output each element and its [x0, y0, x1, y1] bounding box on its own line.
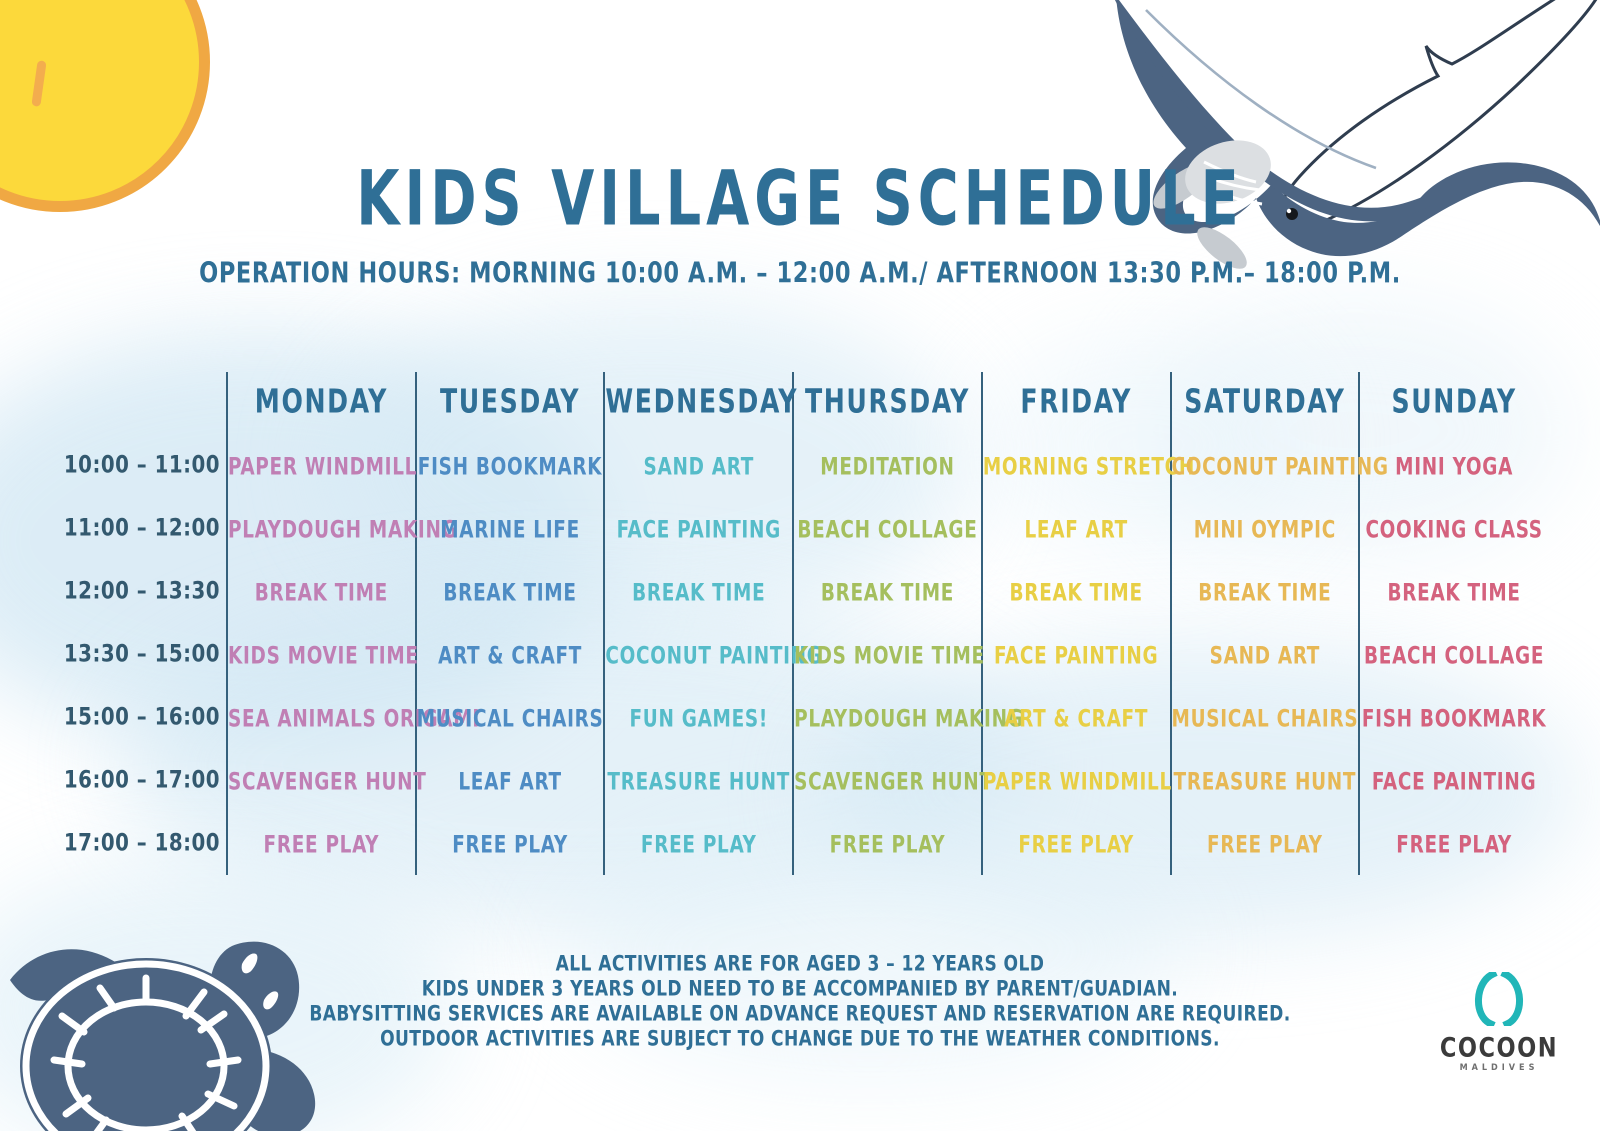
activity-label: LEAF ART [458, 766, 561, 794]
activity-label: COCONUT PAINTING [1172, 451, 1389, 479]
activity-cell-saturday: COCONUT PAINTING [1171, 434, 1360, 497]
poster-canvas: KIDS VILLAGE SCHEDULE OPERATION HOURS: M… [0, 0, 1600, 1131]
activity-cell-sunday: BREAK TIME [1359, 560, 1548, 623]
time-slot-label: 15:00 – 16:00 [58, 683, 227, 752]
cocoon-mark-icon [1463, 972, 1535, 1026]
activity-label: FUN GAMES! [630, 703, 769, 731]
activity-label: FREE PLAY [641, 829, 757, 857]
activity-cell-wednesday: TREASURE HUNT [604, 749, 793, 812]
activity-label: MEDITATION [820, 451, 954, 479]
table-row: 16:00 – 17:00SCAVENGER HUNTLEAF ARTTREAS… [58, 749, 1548, 812]
activity-label: COOKING CLASS [1365, 514, 1542, 542]
table-row: 11:00 – 12:00PLAYDOUGH MAKINGMARINE LIFE… [58, 497, 1548, 560]
activity-label: BREAK TIME [255, 577, 388, 605]
activity-label: BEACH COLLAGE [1364, 640, 1544, 668]
activity-label: TREASURE HUNT [1174, 766, 1357, 794]
day-header-wednesday: WEDNESDAY [604, 372, 793, 434]
footer-notes: ALL ACTIVITIES ARE FOR AGED 3 – 12 YEARS… [0, 952, 1600, 1052]
activity-label: FREE PLAY [264, 829, 380, 857]
activity-cell-saturday: MUSICAL CHAIRS [1171, 686, 1360, 749]
activity-label: FREE PLAY [452, 829, 568, 857]
activity-cell-saturday: FREE PLAY [1171, 812, 1360, 875]
activity-label: MINI OYMPIC [1194, 514, 1336, 542]
activity-cell-monday: KIDS MOVIE TIME [227, 623, 416, 686]
activity-label: MORNING STRETCH [983, 451, 1195, 479]
logo-wordmark: COCOON [1424, 1032, 1574, 1062]
time-column-header [58, 369, 227, 437]
activity-cell-wednesday: SAND ART [604, 434, 793, 497]
activity-label: BREAK TIME [821, 577, 954, 605]
activity-label: FISH BOOKMARK [1362, 703, 1547, 731]
activity-cell-friday: LEAF ART [982, 497, 1171, 560]
table-row: 10:00 – 11:00PAPER WINDMILLFISH BOOKMARK… [58, 434, 1548, 497]
activity-label: BEACH COLLAGE [797, 514, 977, 542]
cocoon-maldives-logo: COCOON MALDIVES [1424, 972, 1574, 1073]
activity-label: BREAK TIME [1010, 577, 1143, 605]
activity-cell-tuesday: ART & CRAFT [416, 623, 605, 686]
activity-cell-monday: PAPER WINDMILL [227, 434, 416, 497]
activity-cell-monday: SCAVENGER HUNT [227, 749, 416, 812]
activity-cell-wednesday: BREAK TIME [604, 560, 793, 623]
activity-label: PLAYDOUGH MAKING [228, 514, 457, 542]
activity-label: FREE PLAY [830, 829, 946, 857]
activity-cell-thursday: PLAYDOUGH MAKING [793, 686, 982, 749]
activity-cell-thursday: BREAK TIME [793, 560, 982, 623]
footer-line: KIDS UNDER 3 YEARS OLD NEED TO BE ACCOMP… [0, 976, 1600, 1004]
day-header-friday: FRIDAY [982, 372, 1171, 434]
schedule-table: MONDAY TUESDAY WEDNESDAY THURSDAY FRIDAY… [58, 372, 1548, 875]
activity-label: BREAK TIME [1198, 577, 1331, 605]
footer-line: OUTDOOR ACTIVITIES ARE SUBJECT TO CHANGE… [0, 1026, 1600, 1054]
footer-line: BABYSITTING SERVICES ARE AVAILABLE ON AD… [0, 1001, 1600, 1029]
activity-label: ART & CRAFT [438, 640, 582, 668]
activity-label: BREAK TIME [632, 577, 765, 605]
activity-cell-thursday: MEDITATION [793, 434, 982, 497]
logo-tagline: MALDIVES [1424, 1063, 1574, 1073]
table-header-row: MONDAY TUESDAY WEDNESDAY THURSDAY FRIDAY… [58, 372, 1548, 434]
activity-cell-friday: MORNING STRETCH [982, 434, 1171, 497]
activity-label: SAND ART [644, 451, 754, 479]
activity-label: SCAVENGER HUNT [794, 766, 993, 794]
day-header-thursday: THURSDAY [793, 372, 982, 434]
activity-cell-sunday: FREE PLAY [1359, 812, 1548, 875]
activity-label: SAND ART [1210, 640, 1320, 668]
activity-label: MARINE LIFE [440, 514, 580, 542]
activity-label: FISH BOOKMARK [418, 451, 603, 479]
activity-cell-thursday: KIDS MOVIE TIME [793, 623, 982, 686]
activity-cell-tuesday: FISH BOOKMARK [416, 434, 605, 497]
activity-label: BREAK TIME [1387, 577, 1520, 605]
table-row: 17:00 – 18:00FREE PLAYFREE PLAYFREE PLAY… [58, 812, 1548, 875]
time-slot-label: 16:00 – 17:00 [58, 746, 227, 815]
activity-label: SCAVENGER HUNT [228, 766, 427, 794]
activity-label: BREAK TIME [443, 577, 576, 605]
activity-cell-friday: PAPER WINDMILL [982, 749, 1171, 812]
day-header-saturday: SATURDAY [1171, 372, 1360, 434]
activity-label: PAPER WINDMILL [983, 766, 1172, 794]
activity-cell-monday: BREAK TIME [227, 560, 416, 623]
activity-label: FREE PLAY [1207, 829, 1323, 857]
table-row: 13:30 – 15:00KIDS MOVIE TIMEART & CRAFTC… [58, 623, 1548, 686]
activity-cell-saturday: BREAK TIME [1171, 560, 1360, 623]
activity-cell-wednesday: FUN GAMES! [604, 686, 793, 749]
activity-cell-wednesday: COCONUT PAINTING [604, 623, 793, 686]
activity-label: PLAYDOUGH MAKING [794, 703, 1023, 731]
table-row: 12:00 – 13:30BREAK TIMEBREAK TIMEBREAK T… [58, 560, 1548, 623]
activity-cell-sunday: BEACH COLLAGE [1359, 623, 1548, 686]
activity-cell-monday: FREE PLAY [227, 812, 416, 875]
activity-cell-tuesday: MARINE LIFE [416, 497, 605, 560]
activity-label: FACE PAINTING [617, 514, 781, 542]
operation-hours: OPERATION HOURS: MORNING 10:00 A.M. – 12… [0, 256, 1600, 289]
activity-cell-friday: ART & CRAFT [982, 686, 1171, 749]
activity-label: PAPER WINDMILL [228, 451, 417, 479]
activity-label: FACE PAINTING [1372, 766, 1536, 794]
activity-label: FREE PLAY [1018, 829, 1134, 857]
activity-cell-tuesday: MUSICAL CHAIRS [416, 686, 605, 749]
activity-cell-saturday: MINI OYMPIC [1171, 497, 1360, 560]
activity-label: FACE PAINTING [994, 640, 1158, 668]
activity-cell-tuesday: FREE PLAY [416, 812, 605, 875]
activity-cell-thursday: BEACH COLLAGE [793, 497, 982, 560]
activity-label: MUSICAL CHAIRS [417, 703, 604, 731]
activity-cell-thursday: FREE PLAY [793, 812, 982, 875]
activity-cell-wednesday: FACE PAINTING [604, 497, 793, 560]
footer-line: ALL ACTIVITIES ARE FOR AGED 3 – 12 YEARS… [0, 951, 1600, 979]
activity-cell-tuesday: BREAK TIME [416, 560, 605, 623]
activity-cell-friday: FACE PAINTING [982, 623, 1171, 686]
poster-header: KIDS VILLAGE SCHEDULE OPERATION HOURS: M… [0, 168, 1600, 285]
activity-cell-wednesday: FREE PLAY [604, 812, 793, 875]
activity-label: FREE PLAY [1396, 829, 1512, 857]
activity-cell-saturday: TREASURE HUNT [1171, 749, 1360, 812]
activity-label: LEAF ART [1024, 514, 1127, 542]
day-header-tuesday: TUESDAY [416, 372, 605, 434]
time-slot-label: 13:30 – 15:00 [58, 620, 227, 689]
day-header-monday: MONDAY [227, 372, 416, 434]
activity-cell-saturday: SAND ART [1171, 623, 1360, 686]
activity-cell-sunday: COOKING CLASS [1359, 497, 1548, 560]
activity-cell-friday: BREAK TIME [982, 560, 1171, 623]
activity-cell-sunday: FACE PAINTING [1359, 749, 1548, 812]
time-slot-label: 11:00 – 12:00 [58, 494, 227, 563]
page-title: KIDS VILLAGE SCHEDULE [0, 161, 1600, 237]
activity-cell-sunday: FISH BOOKMARK [1359, 686, 1548, 749]
time-slot-label: 12:00 – 13:30 [58, 557, 227, 626]
table-row: 15:00 – 16:00SEA ANIMALS ORIGAMIMUSICAL … [58, 686, 1548, 749]
activity-label: KIDS MOVIE TIME [794, 640, 985, 668]
day-header-sunday: SUNDAY [1359, 372, 1548, 434]
activity-cell-monday: PLAYDOUGH MAKING [227, 497, 416, 560]
activity-label: MINI YOGA [1395, 451, 1513, 479]
time-slot-label: 17:00 – 18:00 [58, 809, 227, 878]
activity-cell-thursday: SCAVENGER HUNT [793, 749, 982, 812]
activity-cell-monday: SEA ANIMALS ORIGAMI [227, 686, 416, 749]
time-slot-label: 10:00 – 11:00 [58, 431, 227, 500]
activity-label: ART & CRAFT [1004, 703, 1148, 731]
activity-label: MUSICAL CHAIRS [1172, 703, 1359, 731]
activity-label: COCONUT PAINTING [605, 640, 822, 668]
activity-cell-friday: FREE PLAY [982, 812, 1171, 875]
activity-cell-tuesday: LEAF ART [416, 749, 605, 812]
activity-label: TREASURE HUNT [607, 766, 790, 794]
activity-label: KIDS MOVIE TIME [228, 640, 419, 668]
